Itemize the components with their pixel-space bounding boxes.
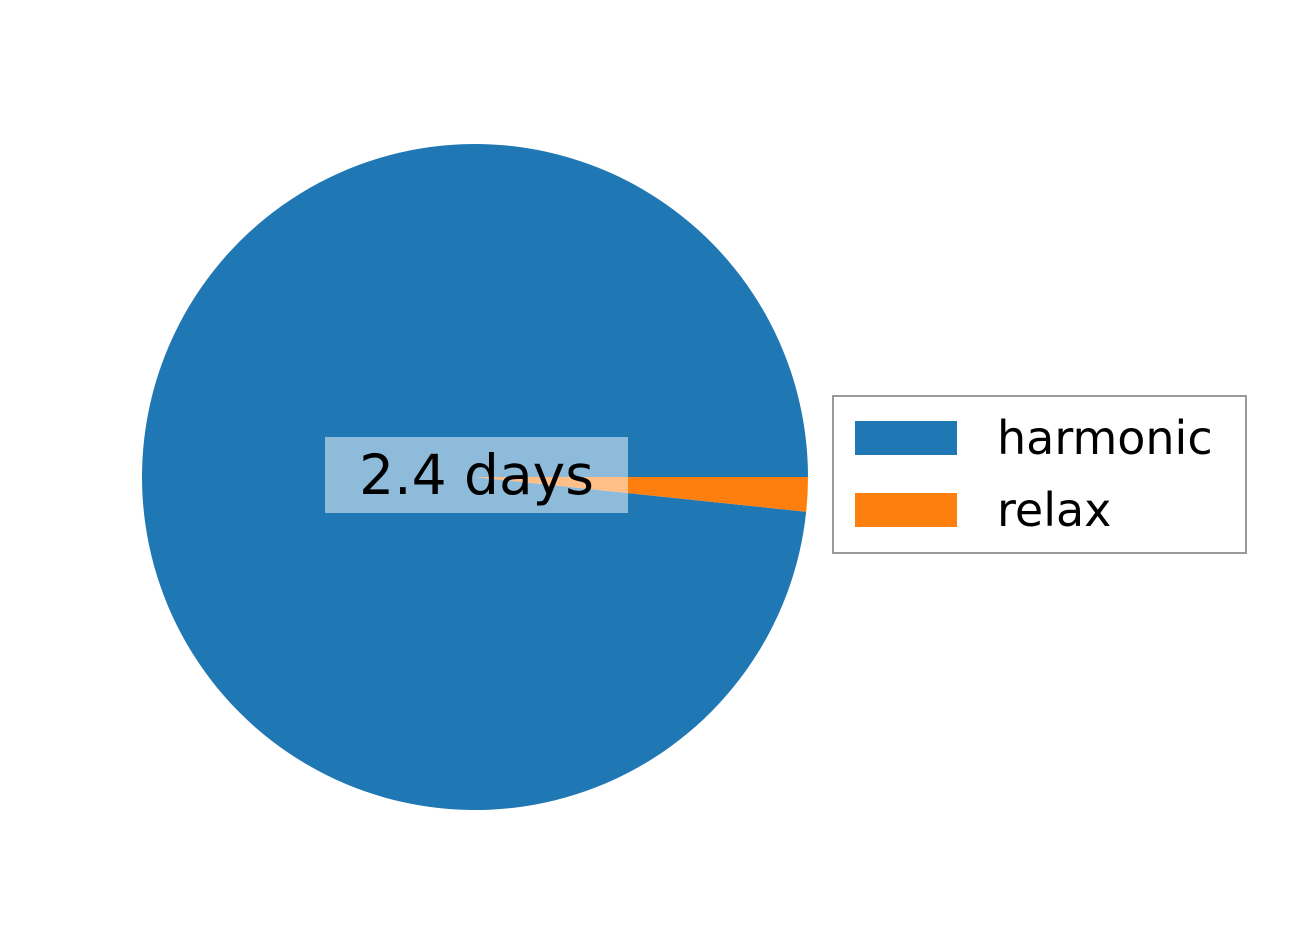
- legend: harmonic relax: [832, 395, 1247, 554]
- legend-item-relax[interactable]: relax: [834, 490, 1245, 530]
- legend-item-harmonic[interactable]: harmonic: [834, 418, 1245, 458]
- legend-label-harmonic: harmonic: [997, 415, 1213, 461]
- pie-chart-figure: 2.4 days harmonic relax: [0, 0, 1307, 951]
- pie-label-harmonic: 2.4 days: [325, 437, 628, 513]
- legend-swatch-harmonic: [855, 421, 957, 455]
- legend-swatch-relax: [855, 493, 957, 527]
- legend-label-relax: relax: [997, 487, 1111, 533]
